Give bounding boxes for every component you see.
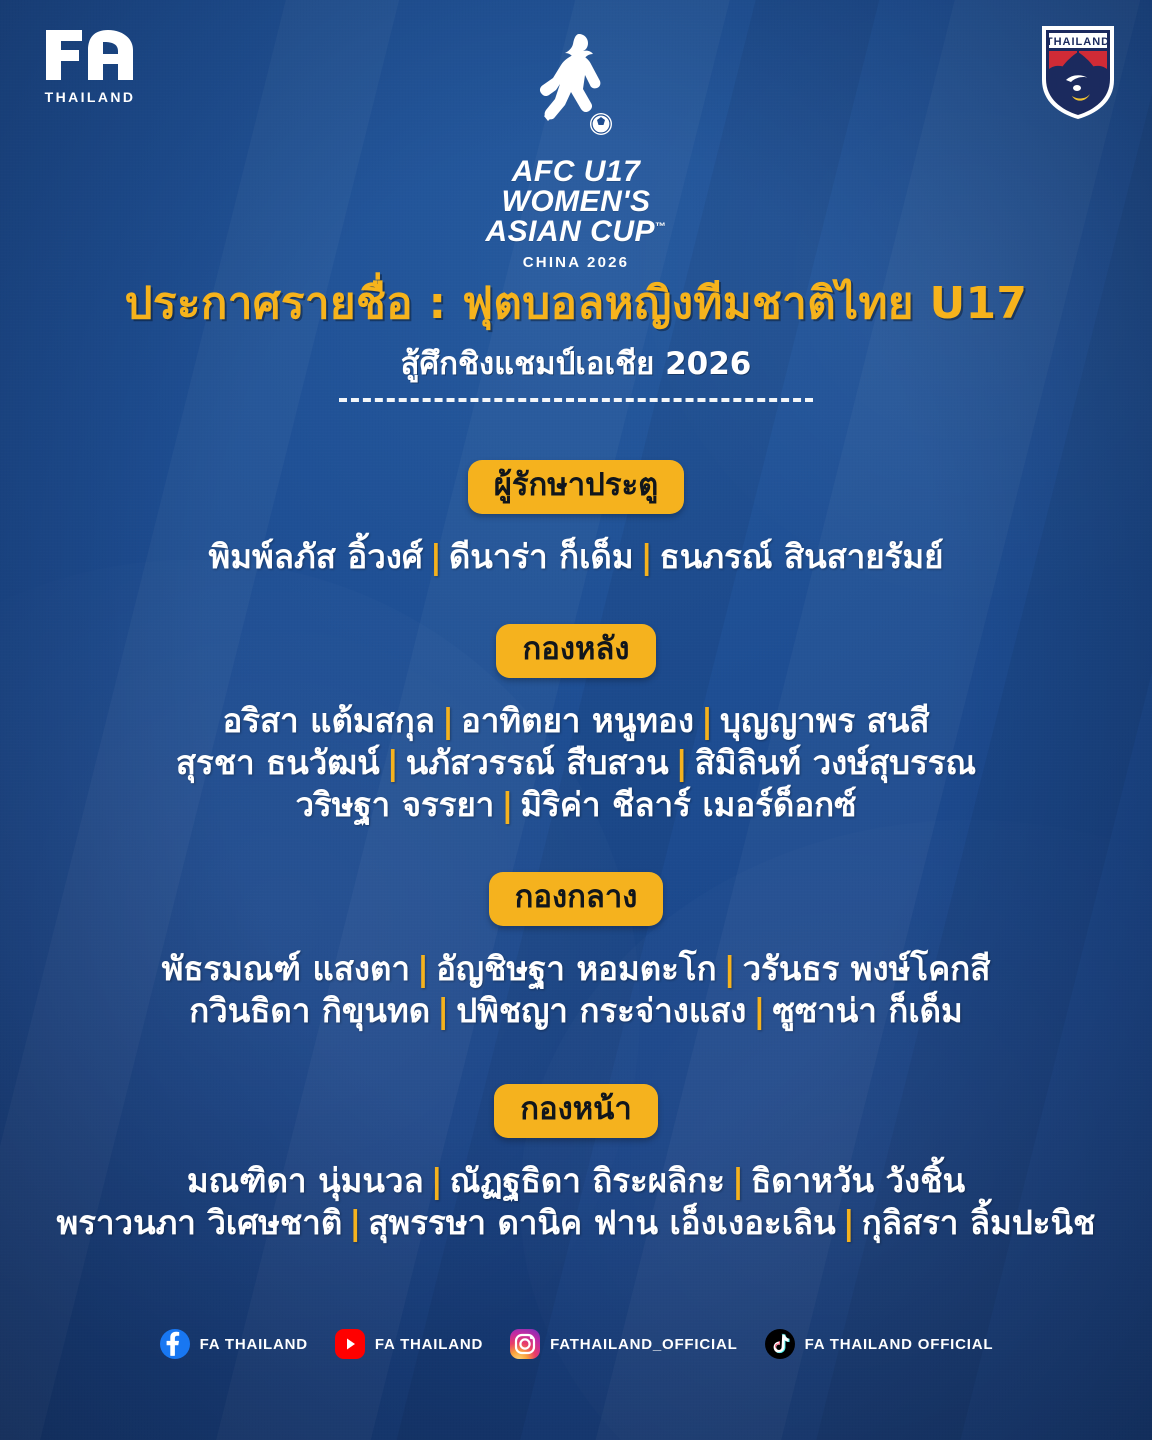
player-name: พิมพ์ลภัส อิ้วงศ์ xyxy=(209,537,423,576)
section-badge: กองหลัง xyxy=(496,624,655,678)
player-name: สิมิลินท์ วงษ์สุบรรณ xyxy=(695,743,976,782)
page-title: ประกาศรายชื่อ : ฟุตบอลหญิงทีมชาติไทย U17 xyxy=(0,268,1152,338)
facebook-icon[interactable] xyxy=(159,1328,191,1360)
section-badge: กองหน้า xyxy=(494,1084,658,1138)
player-name: สุพรรษา ดานิค ฟาน เอ็งเงอะเลิน xyxy=(368,1203,835,1242)
section-names: พิมพ์ลภัส อิ้วงศ์|ดีนาร่า ก็เด็ม|ธนภรณ์ … xyxy=(0,536,1152,578)
name-separator: | xyxy=(342,1203,368,1242)
social-link-instagram[interactable]: FATHAILAND_OFFICIAL xyxy=(509,1328,737,1360)
name-line: กวินธิดา กิขุนทด|ปพิชญา กระจ่างแสง|ซูซาน… xyxy=(0,990,1152,1032)
player-name: ปพิชญา กระจ่างแสง xyxy=(456,991,746,1030)
section-badge: กองกลาง xyxy=(489,872,664,926)
section-defenders: กองหลัง อริสา แต้มสกุล|อาทิตยา หนูทอง|บุ… xyxy=(0,624,1152,826)
name-separator: | xyxy=(836,1203,862,1242)
player-name: ธนภรณ์ สินสายรัมย์ xyxy=(660,537,944,576)
player-name: ซูซาน่า ก็เด็ม xyxy=(772,991,962,1030)
name-line: มณฑิดา นุ่มนวล|ณัฏฐธิดา ถิระผลิกะ|ธิดาหว… xyxy=(0,1160,1152,1202)
player-name: นภัสวรรณ์ สืบสวน xyxy=(406,743,669,782)
name-separator: | xyxy=(410,949,436,988)
name-line: พัธรมณฑ์ แสงตา|อัญชิษฐา หอมตะโก|วรันธร พ… xyxy=(0,948,1152,990)
name-separator: | xyxy=(435,701,461,740)
name-line: พราวนภา วิเศษชาติ|สุพรรษา ดานิค ฟาน เอ็ง… xyxy=(0,1202,1152,1244)
name-separator: | xyxy=(494,785,520,824)
player-name: กวินธิดา กิขุนทด xyxy=(189,991,430,1030)
page-subtitle: สู้ศึกชิงแชมป์เอเชีย 2026 xyxy=(0,338,1152,388)
social-label-instagram: FATHAILAND_OFFICIAL xyxy=(550,1336,737,1353)
afc-logo-line3-text: ASIAN CUP xyxy=(485,215,655,248)
youtube-icon[interactable] xyxy=(334,1328,366,1360)
social-label-tiktok: FA THAILAND OFFICIAL xyxy=(805,1336,994,1353)
tiktok-icon[interactable] xyxy=(764,1328,796,1360)
player-name: ธิดาหวัน วังชิ้น xyxy=(751,1161,965,1200)
name-line: อริสา แต้มสกุล|อาทิตยา หนูทอง|บุญญาพร สน… xyxy=(0,700,1152,742)
player-name: มณฑิดา นุ่มนวล xyxy=(187,1161,424,1200)
section-goalkeepers: ผู้รักษาประตู พิมพ์ลภัส อิ้วงศ์|ดีนาร่า … xyxy=(0,460,1152,578)
name-separator: | xyxy=(430,991,456,1030)
social-label-youtube: FA THAILAND xyxy=(375,1336,483,1353)
section-badge: ผู้รักษาประตู xyxy=(468,460,685,514)
name-separator: | xyxy=(423,537,449,576)
section-forwards: กองหน้า มณฑิดา นุ่มนวล|ณัฏฐธิดา ถิระผลิก… xyxy=(0,1084,1152,1244)
player-name: วริษฐา จรรยา xyxy=(295,785,494,824)
name-separator: | xyxy=(669,743,695,782)
name-separator: | xyxy=(694,701,720,740)
name-separator: | xyxy=(717,949,743,988)
name-line: พิมพ์ลภัส อิ้วงศ์|ดีนาร่า ก็เด็ม|ธนภรณ์ … xyxy=(0,536,1152,578)
afc-logo-line2: WOMEN'S xyxy=(0,187,1152,217)
player-name: อาทิตยา หนูทอง xyxy=(461,701,694,740)
section-names: อริสา แต้มสกุล|อาทิตยา หนูทอง|บุญญาพร สน… xyxy=(0,700,1152,827)
afc-player-silhouette-icon xyxy=(0,28,1152,151)
trademark-symbol: ™ xyxy=(655,221,667,233)
player-name: มิริค่า ชีลาร์ เมอร์ด็อกซ์ xyxy=(520,785,856,824)
name-line: วริษฐา จรรยา|มิริค่า ชีลาร์ เมอร์ด็อกซ์ xyxy=(0,784,1152,826)
social-media-footer: FA THAILAND FA THAILAND xyxy=(0,1328,1152,1360)
section-names: มณฑิดา นุ่มนวล|ณัฏฐธิดา ถิระผลิกะ|ธิดาหว… xyxy=(0,1160,1152,1244)
social-link-youtube[interactable]: FA THAILAND xyxy=(334,1328,483,1360)
section-midfielders: กองกลาง พัธรมณฑ์ แสงตา|อัญชิษฐา หอมตะโก|… xyxy=(0,872,1152,1032)
social-link-facebook[interactable]: FA THAILAND xyxy=(159,1328,308,1360)
afc-u17-womens-asian-cup-logo: AFC U17 WOMEN'S ASIAN CUP™ CHINA 2026 xyxy=(0,28,1152,271)
social-link-tiktok[interactable]: FA THAILAND OFFICIAL xyxy=(764,1328,994,1360)
social-label-facebook: FA THAILAND xyxy=(200,1336,308,1353)
name-line: สุรชา ธนวัฒน์|นภัสวรรณ์ สืบสวน|สิมิลินท์… xyxy=(0,742,1152,784)
dashed-divider xyxy=(339,398,813,402)
player-name: วรันธร พงษ์โคกสี xyxy=(743,949,991,988)
instagram-icon[interactable] xyxy=(509,1328,541,1360)
afc-logo-line1: AFC U17 xyxy=(0,157,1152,187)
player-name: พัธรมณฑ์ แสงตา xyxy=(162,949,410,988)
name-separator: | xyxy=(746,991,772,1030)
player-name: อริสา แต้มสกุล xyxy=(222,701,435,740)
section-names: พัธรมณฑ์ แสงตา|อัญชิษฐา หอมตะโก|วรันธร พ… xyxy=(0,948,1152,1032)
player-name: พราวนภา วิเศษชาติ xyxy=(57,1203,343,1242)
name-separator: | xyxy=(634,537,660,576)
player-name: ณัฏฐธิดา ถิระผลิกะ xyxy=(450,1161,725,1200)
player-name: บุญญาพร สนสี xyxy=(720,701,930,740)
name-separator: | xyxy=(424,1161,450,1200)
player-name: สุรชา ธนวัฒน์ xyxy=(176,743,380,782)
player-name: กุลิสรา ลิ้มปะนิช xyxy=(862,1203,1096,1242)
name-separator: | xyxy=(380,743,406,782)
player-name: ดีนาร่า ก็เด็ม xyxy=(449,537,634,576)
player-name: อัญชิษฐา หอมตะโก xyxy=(436,949,717,988)
afc-logo-line3: ASIAN CUP™ xyxy=(0,217,1152,247)
name-separator: | xyxy=(725,1161,751,1200)
